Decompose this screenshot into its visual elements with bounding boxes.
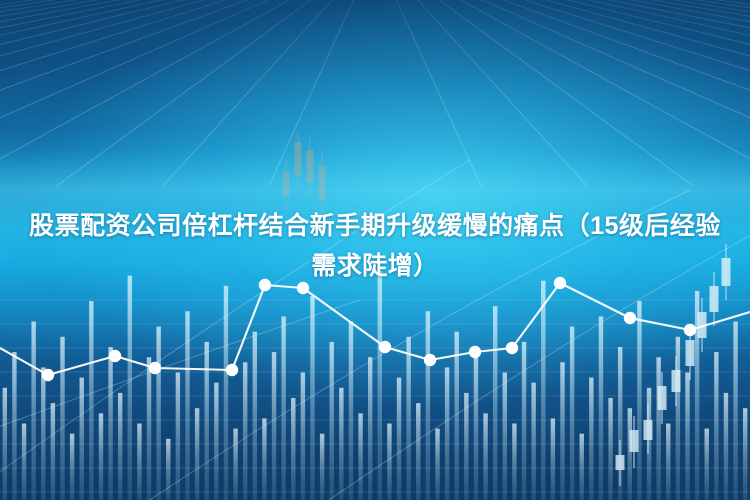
trend-line-marker — [424, 354, 436, 366]
trend-line-marker — [469, 346, 481, 358]
trend-line-marker — [226, 364, 238, 376]
trend-line-marker — [684, 324, 696, 336]
trend-line-marker — [149, 362, 161, 374]
trend-line-marker — [379, 341, 391, 353]
trend-line-marker — [109, 350, 121, 362]
trend-line-marker — [42, 369, 54, 381]
banner-image: 股票配资公司倍杠杆结合新手期升级缓慢的痛点（15级后经验 需求陡增） — [0, 0, 750, 500]
headline-line-2: 需求陡增） — [14, 246, 736, 286]
trend-line-marker — [624, 312, 636, 324]
trend-line-marker — [506, 342, 518, 354]
headline-line-1: 股票配资公司倍杠杆结合新手期升级缓慢的痛点（15级后经验 — [14, 206, 736, 246]
headline-block: 股票配资公司倍杠杆结合新手期升级缓慢的痛点（15级后经验 需求陡增） — [0, 206, 750, 286]
